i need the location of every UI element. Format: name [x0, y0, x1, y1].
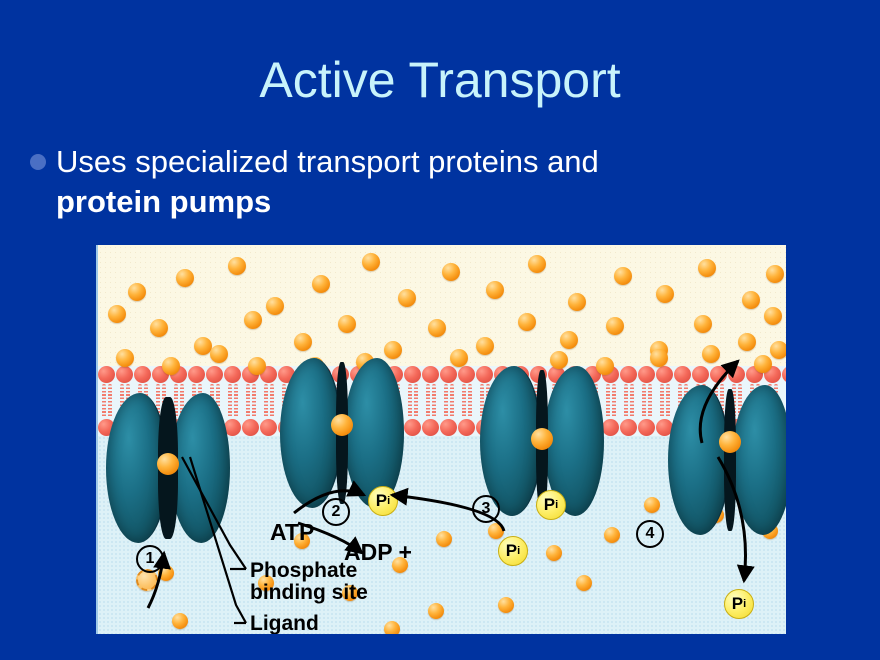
pump-lobe-left	[668, 385, 730, 535]
pump-4	[668, 385, 786, 535]
bound-molecule	[531, 428, 553, 450]
molecule-extracellular	[476, 337, 494, 355]
molecule-extracellular	[176, 269, 194, 287]
molecule-extracellular	[560, 331, 578, 349]
phosphate-letter: P	[376, 491, 387, 511]
phosphate-letter: P	[506, 541, 517, 561]
molecule-extracellular	[398, 289, 416, 307]
molecule-extracellular	[248, 357, 266, 375]
lipid-head	[602, 419, 619, 436]
lipid-head	[638, 366, 655, 383]
lipid-tail	[638, 383, 656, 419]
lipid-tail	[602, 383, 620, 419]
molecule-extracellular	[694, 315, 712, 333]
molecule-extracellular	[766, 265, 784, 283]
ligand-binding-site-label: Ligand binding site	[250, 613, 368, 634]
lipid-head	[224, 366, 241, 383]
lipid-head	[422, 419, 439, 436]
molecule-cytoplasm	[428, 603, 444, 619]
step-marker-3: 3	[472, 495, 500, 523]
molecule-cytoplasm	[498, 597, 514, 613]
molecule-cytoplasm	[644, 497, 660, 513]
lipid-head	[620, 366, 637, 383]
lipid-head	[422, 366, 439, 383]
phosphate-tag-step2: Pi	[368, 486, 398, 516]
lipid-head	[728, 366, 745, 383]
lipid-head	[620, 419, 637, 436]
bound-molecule	[719, 431, 741, 453]
lipid-head	[440, 419, 457, 436]
molecule-extracellular	[162, 357, 180, 375]
molecule-extracellular	[210, 345, 228, 363]
lipid-head	[458, 366, 475, 383]
bullet-dot-icon	[30, 154, 46, 170]
lipid-head	[440, 366, 457, 383]
bullet-item: Uses specialized transport proteins and …	[30, 142, 830, 222]
lipid-head	[638, 419, 655, 436]
molecule-extracellular	[442, 263, 460, 281]
molecule-extracellular	[228, 257, 246, 275]
molecule-extracellular	[770, 341, 786, 359]
body-text-block: Uses specialized transport proteins and …	[30, 142, 830, 222]
lipid-head	[404, 366, 421, 383]
page-title: Active Transport	[0, 52, 880, 108]
lipid-head	[206, 366, 223, 383]
phosphate-tag-adp: Pi	[498, 536, 528, 566]
molecule-extracellular	[128, 283, 146, 301]
bound-molecule	[157, 453, 179, 475]
lipid-head	[188, 366, 205, 383]
step-marker-4: 4	[636, 520, 664, 548]
bullet-text: Uses specialized transport proteins and …	[56, 142, 599, 222]
molecule-extracellular	[362, 253, 380, 271]
phosphate-subscript: i	[517, 545, 520, 557]
molecule-extracellular	[650, 349, 668, 367]
molecule-extracellular	[754, 355, 772, 373]
lipid-tail	[242, 383, 260, 419]
lipid-tail	[440, 383, 458, 419]
molecule-cytoplasm	[546, 545, 562, 561]
lipid-head	[782, 366, 786, 383]
molecule-cytoplasm	[436, 531, 452, 547]
molecule-extracellular	[742, 291, 760, 309]
molecule-extracellular	[266, 297, 284, 315]
lipid-head	[692, 366, 709, 383]
phosphate-subscript: i	[387, 495, 390, 507]
lipid-heads-outer	[98, 366, 786, 383]
pump-lobe-left	[280, 358, 342, 508]
phosphate-tag-step3: Pi	[536, 490, 566, 520]
molecule-extracellular	[450, 349, 468, 367]
molecule-extracellular	[338, 315, 356, 333]
molecule-extracellular	[528, 255, 546, 273]
molecule-extracellular	[384, 341, 402, 359]
molecule-extracellular	[568, 293, 586, 311]
step-marker-1: 1	[136, 545, 164, 573]
phosphate-letter: P	[544, 495, 555, 515]
step-marker-2: 2	[322, 498, 350, 526]
lipid-head	[404, 419, 421, 436]
lipid-head	[674, 366, 691, 383]
molecule-extracellular	[606, 317, 624, 335]
phosphate-binding-site-label: Phosphate binding site	[250, 560, 368, 604]
molecule-extracellular	[108, 305, 126, 323]
lipid-tail	[422, 383, 440, 419]
molecule-extracellular	[702, 345, 720, 363]
pump-lobe-right	[170, 393, 230, 543]
bound-molecule	[331, 414, 353, 436]
lipid-head	[242, 419, 259, 436]
phosphate-letter: P	[732, 594, 743, 614]
lipid-tail	[458, 383, 476, 419]
molecule-cytoplasm	[576, 575, 592, 591]
molecule-extracellular	[764, 307, 782, 325]
bullet-line-2: protein pumps	[56, 182, 599, 222]
bullet-line-1: Uses specialized transport proteins and	[56, 142, 599, 182]
lipid-head	[656, 366, 673, 383]
lipid-head	[710, 366, 727, 383]
active-transport-diagram: Pi Pi Pi Pi 1 2 3 4 ATP ADP + Phosphate …	[96, 245, 786, 634]
molecule-extracellular	[150, 319, 168, 337]
molecule-cytoplasm	[488, 523, 504, 539]
lipid-head	[134, 366, 151, 383]
lipid-head	[116, 366, 133, 383]
lipid-head	[260, 419, 277, 436]
phosphate-tag-step4: Pi	[724, 589, 754, 619]
molecule-cytoplasm	[604, 527, 620, 543]
molecule-cytoplasm	[172, 613, 188, 629]
pump-lobe-right	[344, 358, 404, 508]
lipid-tail	[620, 383, 638, 419]
molecule-extracellular	[518, 313, 536, 331]
molecule-cytoplasm	[384, 621, 400, 634]
lipid-tail	[404, 383, 422, 419]
molecule-extracellular	[738, 333, 756, 351]
molecule-extracellular	[312, 275, 330, 293]
phosphate-subscript: i	[743, 598, 746, 610]
phosphate-subscript: i	[555, 499, 558, 511]
molecule-extracellular	[428, 319, 446, 337]
molecule-extracellular	[698, 259, 716, 277]
pump-lobe-right	[732, 385, 786, 535]
molecule-extracellular	[486, 281, 504, 299]
lipid-tail	[260, 383, 278, 419]
molecule-extracellular	[244, 311, 262, 329]
pump-1	[106, 393, 230, 543]
pump-channel	[724, 389, 736, 531]
molecule-extracellular	[656, 285, 674, 303]
lipid-head	[458, 419, 475, 436]
molecule-extracellular	[294, 333, 312, 351]
molecule-extracellular	[116, 349, 134, 367]
atp-label: ATP	[270, 521, 314, 543]
lipid-head	[98, 366, 115, 383]
slide-canvas: Active Transport Uses specialized transp…	[0, 0, 880, 660]
molecule-extracellular	[614, 267, 632, 285]
